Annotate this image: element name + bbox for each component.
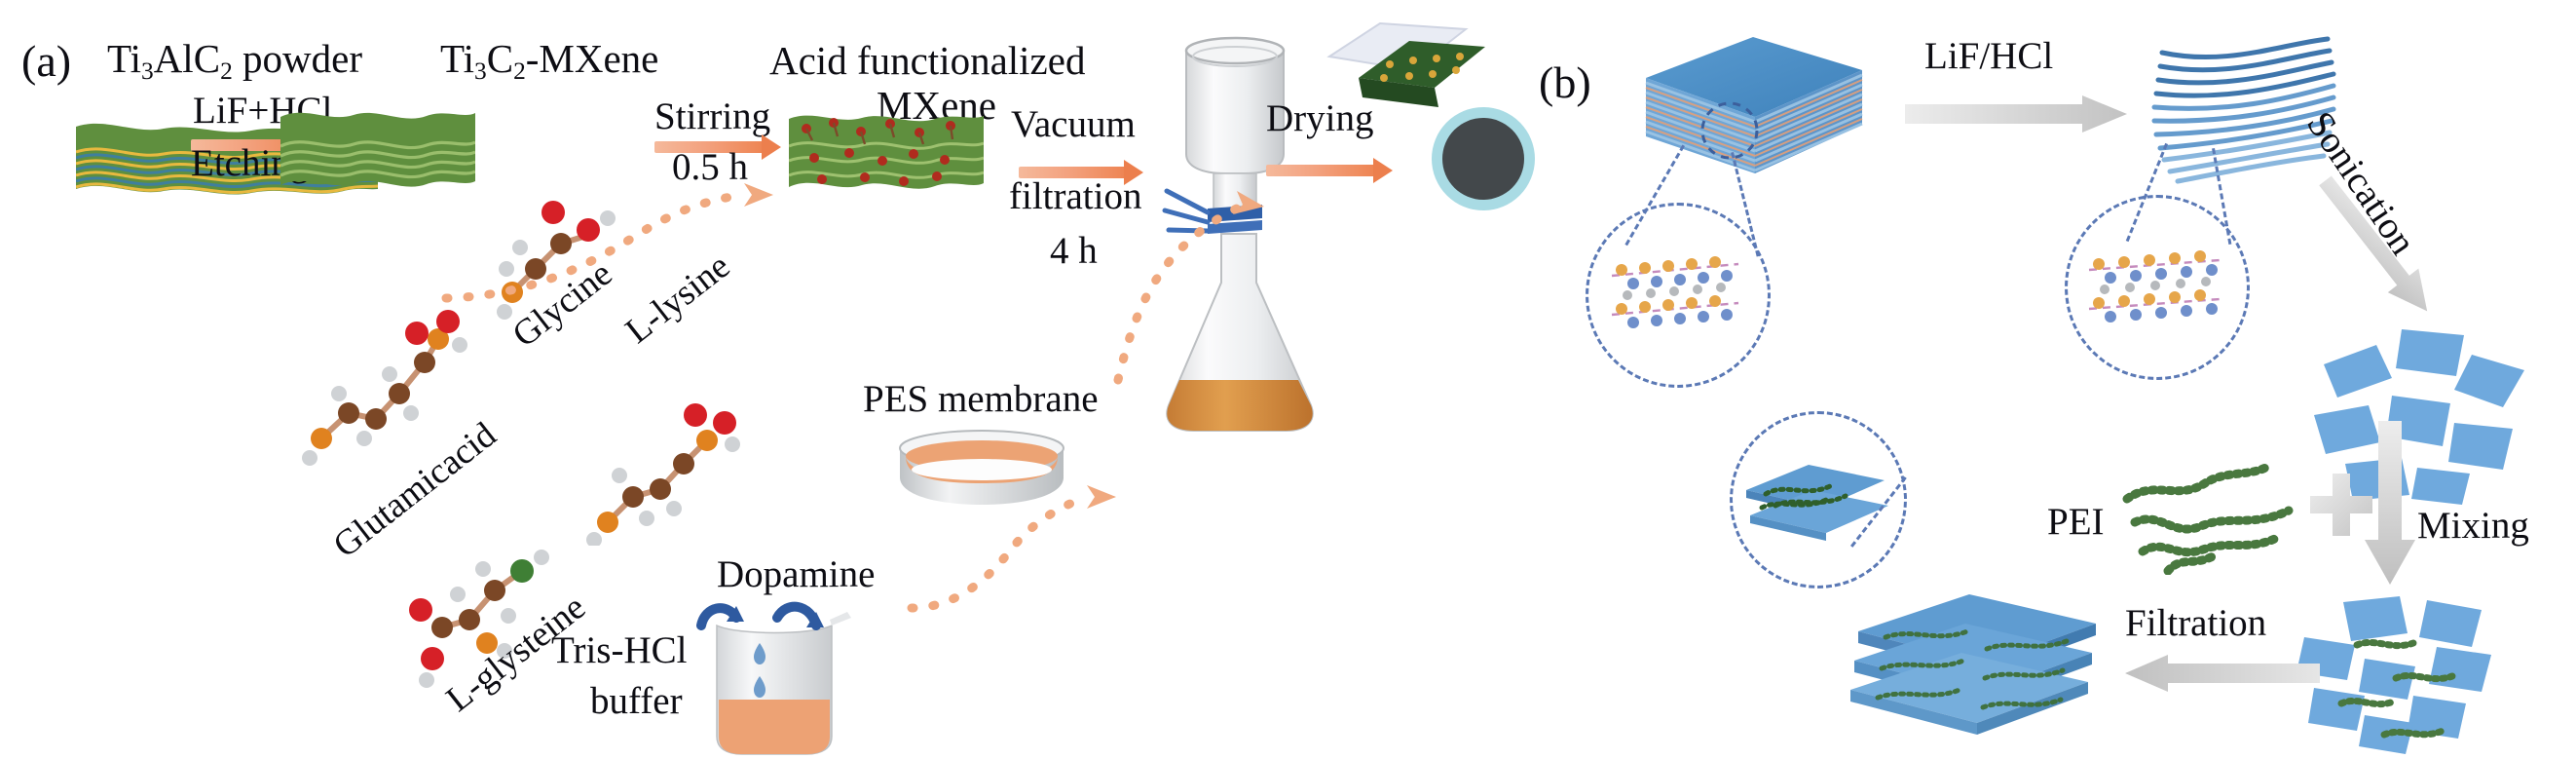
dotted-arrow-pes-to-flask — [1091, 185, 1266, 390]
step-drying-label: Drying — [1266, 99, 1374, 137]
zoom-callout-bulk-lattice — [1586, 203, 1771, 388]
mxene-pei-dispersion — [2291, 594, 2515, 758]
pei-polymer-chains — [2121, 458, 2296, 575]
step-filtration-label: Filtration — [2125, 604, 2266, 642]
final-membrane-disc — [1430, 105, 1537, 212]
arrow-lif-hcl — [1905, 95, 2129, 133]
title-ti3alc2-powder: Ti3AlC2 powder — [107, 39, 362, 85]
label-tris-hcl-line2: buffer — [590, 682, 683, 720]
step-vacuum-line1: Vacuum — [1011, 105, 1136, 143]
ti3c2-mxene-block — [280, 103, 475, 193]
tris-hcl-beaker — [693, 585, 859, 759]
zoom-callout-expanded-lattice — [2065, 195, 2250, 380]
dotted-arrow-amino-to-mxene — [434, 181, 785, 308]
figure-canvas: (a) Ti3AlC2 powder Ti3C2-MXene Acid func… — [0, 0, 2576, 759]
step-stirring-label: Stirring — [654, 97, 770, 135]
label-pei: PEI — [2047, 503, 2105, 541]
pei-mxene-laminar-membrane — [1841, 588, 2113, 744]
title-ti3c2-mxene: Ti3C2-MXene — [440, 39, 658, 85]
panel-b-label: (b) — [1539, 60, 1591, 105]
pes-membrane-dish — [894, 427, 1069, 512]
molecule-l-lysine — [580, 380, 746, 546]
molecule-glutamic-acid — [292, 292, 467, 468]
label-pes-membrane: PES membrane — [863, 380, 1099, 418]
acid-functionalized-mxene-block — [789, 107, 984, 195]
label-tris-hcl-line1: Tris-HCl — [551, 631, 687, 669]
title-acid-functionalized-line1: Acid functionalized — [769, 41, 1085, 81]
step-mixing-label: Mixing — [2417, 507, 2529, 545]
zoom-callout-membrane-interlayer — [1730, 411, 1907, 588]
arrow-mixing — [2363, 421, 2417, 587]
panel-a-label: (a) — [21, 39, 71, 84]
arrow-filtration — [2125, 655, 2320, 692]
bulk-max-block — [1587, 27, 1870, 203]
step-lif-hcl-label: LiF/HCl — [1924, 37, 2053, 75]
arrow-drying — [1266, 162, 1393, 179]
